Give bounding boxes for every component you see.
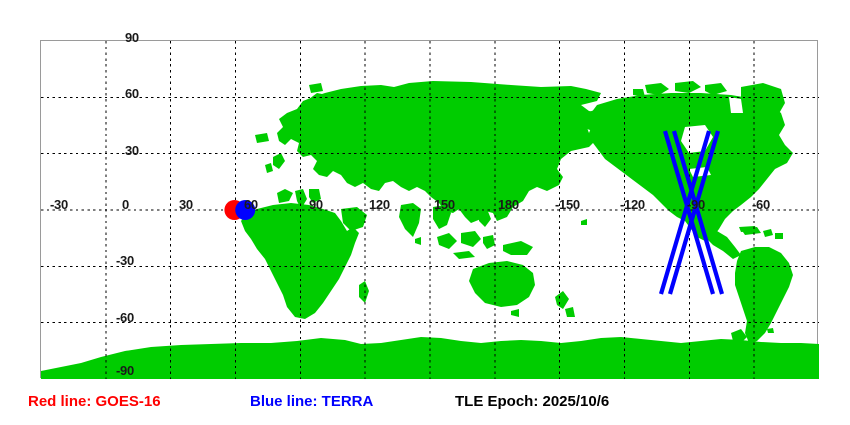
lon-label-minus90: -90 [687, 198, 705, 211]
hawaii [581, 219, 587, 225]
java [453, 251, 475, 259]
legend-tle-epoch: TLE Epoch: 2025/10/6 [455, 392, 609, 412]
tasmania [511, 309, 519, 317]
lon-label-0: 0 [122, 198, 129, 211]
legend-terra: Blue line: TERRA [250, 392, 373, 412]
sri-lanka [415, 237, 421, 245]
lon-label-150: 150 [434, 198, 455, 211]
sulawesi [483, 235, 495, 249]
lon-label-60: 60 [244, 198, 258, 211]
lat-label-minus90: -90 [116, 364, 134, 377]
lon-label-30: 30 [179, 198, 193, 211]
lat-label-minus30: -30 [116, 254, 134, 267]
sumatra [437, 233, 457, 249]
falklands [767, 328, 774, 333]
british-isles [265, 153, 285, 173]
legend-goes16: Red line: GOES-16 [28, 392, 161, 412]
australia [469, 261, 535, 307]
new-guinea [503, 241, 533, 255]
lon-label-minus30: -30 [50, 198, 68, 211]
svalbard [309, 83, 323, 93]
lat-label-60: 60 [125, 87, 139, 100]
arabian-peninsula [341, 207, 367, 231]
indian-subcontinent [399, 203, 421, 237]
figure-legend: Red line: GOES-16 Blue line: TERRA TLE E… [0, 392, 850, 420]
satellite-track-map-figure: -30 0 30 60 90 120 150 180 -150 -120 -90… [0, 0, 850, 425]
lon-label-minus150: -150 [555, 198, 580, 211]
lon-label-minus120: -120 [620, 198, 645, 211]
iceland [255, 133, 269, 143]
lon-label-minus60: -60 [752, 198, 770, 211]
lat-label-90: 90 [125, 31, 139, 44]
baffin-water [729, 97, 743, 113]
borneo [461, 231, 481, 247]
lat-label-minus60: -60 [116, 311, 134, 324]
africa-landmass [241, 203, 359, 319]
lon-label-90: 90 [309, 198, 323, 211]
new-zealand [555, 291, 575, 317]
lat-label-30: 30 [125, 144, 139, 157]
lon-label-120: 120 [369, 198, 390, 211]
lon-label-180: 180 [498, 198, 519, 211]
madagascar [359, 281, 369, 303]
south-america-landmass [735, 247, 793, 343]
